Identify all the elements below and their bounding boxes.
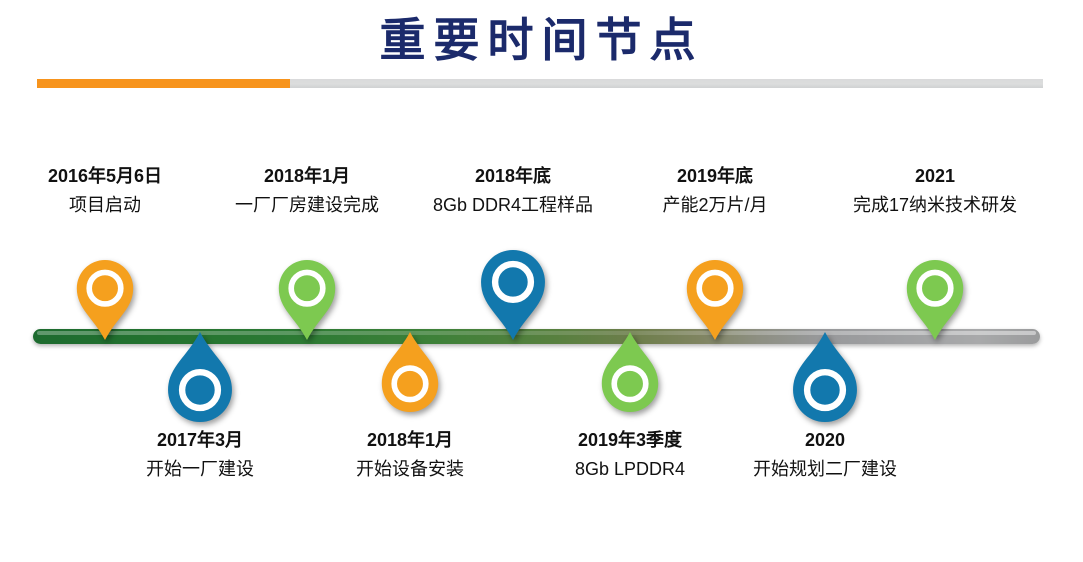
map-pin-icon [685, 260, 745, 340]
marker-2018-01-pin-icon[interactable] [277, 260, 337, 340]
marker-2021-pin-icon[interactable] [905, 260, 965, 340]
marker-2020-pin-icon[interactable] [791, 332, 859, 422]
marker-2020-date: 2020 [665, 428, 985, 452]
map-pin-icon [75, 260, 135, 340]
marker-2021-date: 2021 [775, 164, 1083, 188]
marker-2019-end-pin-icon[interactable] [685, 260, 745, 340]
map-pin-icon [479, 250, 547, 340]
map-pin-icon [277, 260, 337, 340]
marker-2021-description: 完成17纳米技术研发 [775, 192, 1083, 218]
divider-accent [37, 79, 290, 88]
marker-2020-label: 2020开始规划二厂建设 [665, 428, 985, 482]
map-pin-icon [166, 332, 234, 422]
marker-2016-05-06-pin-icon[interactable] [75, 260, 135, 340]
page-title: 重要时间节点 [0, 8, 1083, 72]
title-divider [37, 79, 1043, 88]
map-pin-icon [905, 260, 965, 340]
marker-2019-q3-pin-icon[interactable] [600, 332, 660, 412]
map-pin-icon [380, 332, 440, 412]
map-pin-icon [791, 332, 859, 422]
marker-2020-description: 开始规划二厂建设 [665, 456, 985, 482]
marker-2017-03-pin-icon[interactable] [166, 332, 234, 422]
map-pin-icon [600, 332, 660, 412]
marker-2018-end-pin-icon[interactable] [479, 250, 547, 340]
marker-2021-label: 2021完成17纳米技术研发 [775, 164, 1083, 218]
marker-2018-01b-pin-icon[interactable] [380, 332, 440, 412]
timeline-slide: 重要时间节点 2016年5月6日项目启动2018年1月一厂厂房建设完成2018年… [0, 0, 1083, 562]
